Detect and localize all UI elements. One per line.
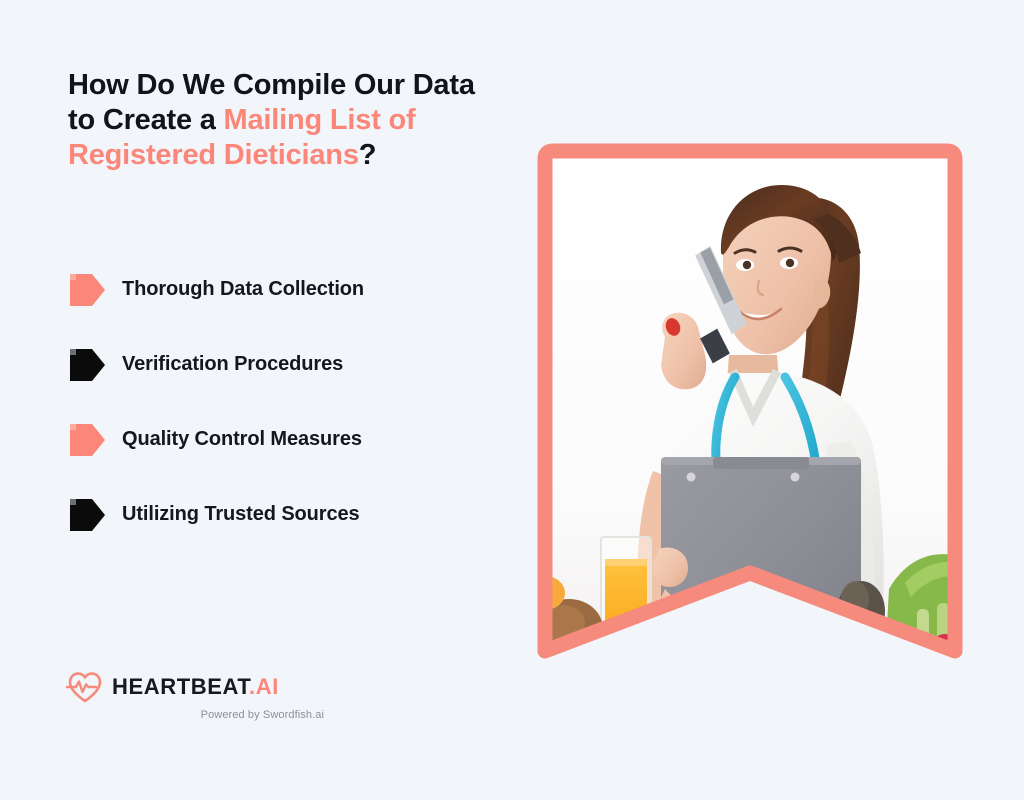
eye-left (743, 261, 751, 269)
ribbon-marker-black-icon (68, 345, 106, 385)
list-item-label: Thorough Data Collection (122, 278, 364, 301)
list-item-label: Utilizing Trusted Sources (122, 503, 360, 526)
orange-right (681, 615, 729, 655)
ribbon-marker-black-icon (68, 495, 106, 535)
headline-line-2-plain: to Create a (68, 104, 224, 136)
headline-line-2-accent: Mailing List of (224, 104, 416, 136)
list-item: Utilizing Trusted Sources (68, 477, 498, 552)
eye-right (786, 259, 794, 267)
photo-content (533, 141, 967, 664)
list-item: Verification Procedures (68, 327, 498, 402)
list-item: Thorough Data Collection (68, 252, 498, 327)
headline-line-1: How Do We Compile Our Data (68, 69, 475, 101)
list-item-label: Verification Procedures (122, 353, 343, 376)
brand-logo: HEARTBEAT.AI Powered by Swordfish.ai (66, 670, 326, 721)
tomato (829, 628, 869, 662)
banner-illustration (533, 141, 967, 664)
ribbon-marker-coral-icon (68, 270, 106, 310)
headline-line-3-plain: ? (359, 139, 377, 171)
lettuce-left (623, 629, 691, 664)
page-title: How Do We Compile Our Data to Create a M… (68, 68, 498, 173)
feature-list: Thorough Data Collection Verification Pr… (68, 252, 498, 552)
orange-juice-glass (601, 537, 651, 661)
logo-wordmark-tld: .AI (249, 674, 279, 699)
logo-tagline: Powered by Swordfish.ai (66, 709, 326, 721)
logo-wordmark: HEARTBEAT.AI (112, 674, 279, 700)
infographic-page: How Do We Compile Our Data to Create a M… (0, 0, 1024, 800)
banner-photo-frame (533, 141, 967, 664)
orange-slice (863, 644, 891, 664)
headline-line-3-accent: Registered Dieticians (68, 139, 359, 171)
headline-block: How Do We Compile Our Data to Create a M… (68, 68, 498, 173)
logo-wordmark-main: HEARTBEAT (112, 674, 249, 699)
ribbon-marker-coral-icon (68, 420, 106, 460)
list-item-label: Quality Control Measures (122, 428, 362, 451)
heartbeat-pulse-icon (66, 670, 104, 704)
radish-1 (868, 646, 902, 664)
list-item: Quality Control Measures (68, 402, 498, 477)
clipboard (661, 457, 861, 664)
logo-row: HEARTBEAT.AI (66, 670, 326, 704)
